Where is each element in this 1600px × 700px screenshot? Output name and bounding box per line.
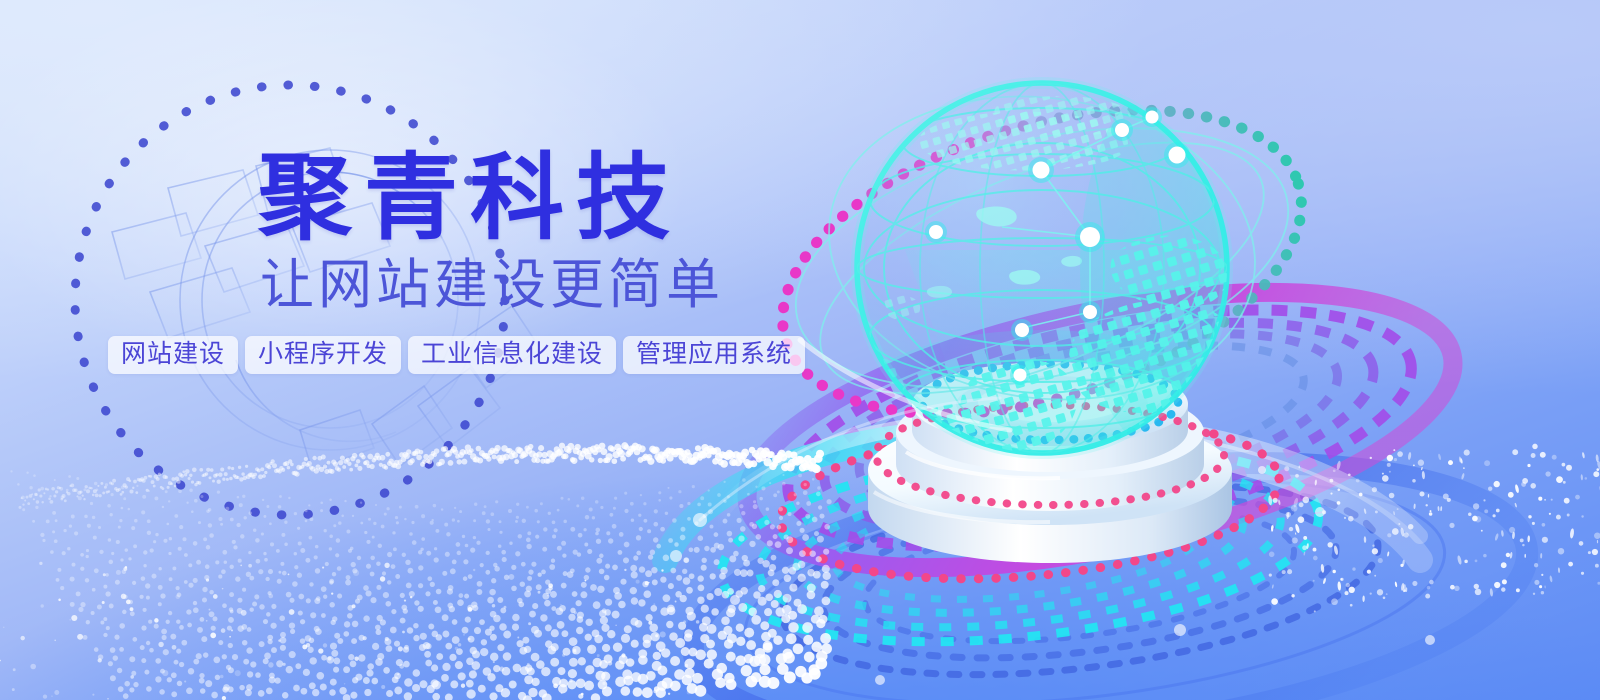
particle-dot xyxy=(702,558,707,563)
particle-blob xyxy=(1258,466,1266,474)
particle-blob xyxy=(670,550,682,562)
particle-dot xyxy=(174,660,179,665)
particle-dot xyxy=(343,666,350,673)
particle-dot xyxy=(1541,574,1543,576)
particle-dot xyxy=(62,494,66,498)
particle-dot xyxy=(352,453,357,458)
particle-dot xyxy=(198,481,202,485)
particle-dot xyxy=(595,500,599,504)
particle-dot xyxy=(822,565,830,573)
particle-dash xyxy=(1540,553,1542,558)
hero-text-block: 聚青科技 让网站建设更简单 网站建设 小程序开发 工业信息化建设 管理应用系统 xyxy=(108,150,868,374)
particle-dot xyxy=(272,463,277,468)
particle-dot xyxy=(580,591,587,598)
particle-dot xyxy=(741,449,749,457)
particle-dot xyxy=(189,489,193,493)
particle-dot xyxy=(111,552,114,555)
particle-dot xyxy=(1506,553,1510,557)
particle-dot xyxy=(631,518,634,521)
particle-dot xyxy=(97,485,99,487)
particle-dot xyxy=(600,448,607,455)
particle-dot xyxy=(561,541,566,546)
particle-dot xyxy=(728,538,733,543)
particle-dot xyxy=(449,606,455,612)
particle-dot xyxy=(535,458,541,464)
particle-dot xyxy=(229,477,233,481)
particle-dot xyxy=(416,455,422,461)
particle-dot xyxy=(20,636,24,640)
particle-dot xyxy=(144,670,149,675)
particle-dot xyxy=(189,474,192,477)
particle-dot xyxy=(707,624,717,634)
particle-dot xyxy=(238,559,242,563)
particle-dot xyxy=(797,604,807,614)
particle-dot xyxy=(199,678,205,684)
particle-dot xyxy=(333,657,340,664)
particle-dot xyxy=(443,446,449,452)
particle-dash xyxy=(1457,555,1463,565)
particle-dot xyxy=(200,495,203,498)
particle-dot xyxy=(718,631,727,640)
particle-dot xyxy=(695,685,707,697)
particle-dot xyxy=(576,679,586,689)
particle-dot xyxy=(103,633,107,637)
particle-dot xyxy=(1493,514,1496,517)
particle-dot xyxy=(0,660,1,662)
particle-dot xyxy=(1556,476,1563,483)
particle-dot xyxy=(368,518,371,521)
particle-dot xyxy=(457,551,461,555)
particle-dot xyxy=(768,569,775,576)
particle-dot xyxy=(480,648,488,656)
particle-dot xyxy=(552,520,556,524)
particle-dot xyxy=(193,578,198,583)
particle-dot xyxy=(119,647,124,652)
particle-dot xyxy=(1382,475,1389,482)
particle-dot xyxy=(240,534,244,538)
particle-dot xyxy=(121,594,126,599)
particle-dot xyxy=(232,540,236,544)
particle-dot xyxy=(614,497,617,500)
particle-dot xyxy=(826,499,831,504)
particle-dot xyxy=(710,573,716,579)
particle-dot xyxy=(71,615,77,621)
particle-dot xyxy=(206,579,209,582)
particle-dot xyxy=(103,573,106,576)
particle-dot xyxy=(783,594,792,603)
particle-dot xyxy=(268,662,273,667)
particle-dot xyxy=(94,482,97,485)
particle-dot xyxy=(206,509,209,512)
particle-dot xyxy=(239,685,245,691)
particle-dot xyxy=(613,642,623,652)
particle-dash xyxy=(1333,545,1338,555)
particle-dot xyxy=(375,504,377,506)
particle-dot xyxy=(471,661,480,670)
particle-dot xyxy=(767,677,779,689)
particle-dot xyxy=(631,640,639,648)
particle-dot xyxy=(315,568,320,573)
particle-dot xyxy=(608,661,613,666)
particle-dot xyxy=(76,495,78,497)
particle-dot xyxy=(1337,501,1341,505)
particle-dot xyxy=(271,647,277,653)
particle-dot xyxy=(585,619,592,626)
particle-dot xyxy=(349,468,353,472)
particle-dot xyxy=(1475,589,1482,596)
particle-dot xyxy=(209,533,214,538)
particle-dot xyxy=(714,588,722,596)
particle-dot xyxy=(384,513,387,516)
particle-dot xyxy=(57,568,61,572)
particle-dot xyxy=(241,472,244,475)
service-tag-website[interactable]: 网站建设 xyxy=(108,336,238,374)
particle-dot xyxy=(1522,544,1524,546)
particle-dot xyxy=(1468,513,1472,517)
particle-dot xyxy=(375,625,381,631)
particle-dot xyxy=(763,643,773,653)
particle-dot xyxy=(90,487,92,489)
particle-dot xyxy=(188,583,193,588)
particle-dot xyxy=(237,496,240,499)
particle-dot xyxy=(639,445,646,452)
particle-dash xyxy=(1597,540,1598,543)
particle-dot xyxy=(1292,537,1298,543)
particle-dot xyxy=(695,445,701,451)
particle-dot xyxy=(769,482,771,484)
particle-dot xyxy=(333,524,336,527)
particle-dot xyxy=(54,690,59,695)
particle-dot xyxy=(158,585,163,590)
particle-dot xyxy=(202,587,207,592)
particle-dot xyxy=(231,629,233,631)
particle-dot xyxy=(136,485,138,487)
particle-dot xyxy=(40,533,44,537)
particle-dot xyxy=(547,595,549,597)
particle-dot xyxy=(286,666,293,673)
particle-dot xyxy=(535,535,539,539)
particle-dot xyxy=(336,538,340,542)
particle-dot xyxy=(314,555,318,559)
particle-dot xyxy=(816,556,822,562)
particle-dot xyxy=(150,548,154,552)
particle-dot xyxy=(351,638,357,644)
particle-dot xyxy=(1463,467,1465,469)
particle-dot xyxy=(327,461,331,465)
particle-dot xyxy=(130,611,135,616)
particle-dot xyxy=(100,621,104,625)
particle-dot xyxy=(1534,580,1539,585)
particle-dot xyxy=(445,643,452,650)
particle-dot xyxy=(430,582,435,587)
particle-dot xyxy=(548,512,551,515)
particle-dot xyxy=(441,508,444,511)
particle-dot xyxy=(560,497,563,500)
particle-dot xyxy=(568,614,575,621)
particle-dot xyxy=(366,564,371,569)
particle-dot xyxy=(581,582,587,588)
particle-dot xyxy=(817,536,824,543)
particle-dot xyxy=(1332,570,1335,573)
particle-dot xyxy=(110,513,113,516)
particle-dot xyxy=(412,684,420,692)
particle-dot xyxy=(425,591,430,596)
particle-dot xyxy=(1430,510,1432,512)
particle-dot xyxy=(331,592,333,594)
particle-dot xyxy=(600,506,603,509)
particle-dot xyxy=(341,515,344,518)
particle-dot xyxy=(129,489,133,493)
particle-dot xyxy=(1556,515,1561,520)
particle-dot xyxy=(442,631,449,638)
particle-dot xyxy=(612,565,618,571)
particle-dot xyxy=(228,643,233,648)
particle-dot xyxy=(300,619,305,624)
particle-dot xyxy=(98,526,101,529)
particle-dot xyxy=(576,627,583,634)
particle-dot xyxy=(784,575,792,583)
particle-dot xyxy=(128,508,130,510)
particle-dot xyxy=(455,647,458,650)
particle-dot xyxy=(605,599,612,606)
particle-dot xyxy=(217,480,221,484)
particle-dot xyxy=(668,693,670,695)
particle-dot xyxy=(689,573,695,579)
particle-dot xyxy=(542,593,549,600)
particle-dot xyxy=(27,502,30,505)
particle-dot xyxy=(534,509,538,513)
particle-dot xyxy=(337,594,342,599)
particle-dot xyxy=(738,536,744,542)
service-tag-management[interactable]: 管理应用系统 xyxy=(623,336,805,374)
particle-dot xyxy=(1397,451,1403,457)
particle-dot xyxy=(481,639,487,645)
particle-dot xyxy=(141,625,146,630)
particle-dot xyxy=(262,474,266,478)
particle-dot xyxy=(747,493,750,496)
particle-dot xyxy=(517,637,519,639)
particle-dot xyxy=(309,638,315,644)
particle-dot xyxy=(1313,580,1315,582)
particle-dot xyxy=(68,475,71,478)
particle-dot xyxy=(174,485,177,488)
particle-blob xyxy=(730,595,740,605)
particle-dot xyxy=(823,549,829,555)
particle-dot xyxy=(466,689,475,698)
particle-dot xyxy=(284,543,288,547)
particle-dot xyxy=(585,580,587,582)
particle-dot xyxy=(812,478,815,481)
particle-dot xyxy=(1404,532,1409,537)
particle-dot xyxy=(92,588,96,592)
particle-dot xyxy=(1345,591,1349,595)
particle-dot xyxy=(402,631,405,634)
particle-dot xyxy=(1348,516,1354,522)
particle-dot xyxy=(575,444,581,450)
particle-dot xyxy=(301,688,308,695)
service-tag-list: 网站建设 小程序开发 工业信息化建设 管理应用系统 xyxy=(108,336,868,374)
particle-dot xyxy=(744,628,754,638)
particle-dot xyxy=(504,606,507,609)
particle-dot xyxy=(31,493,33,495)
particle-dot xyxy=(308,504,310,506)
particle-dot xyxy=(643,590,651,598)
service-tag-miniprogram[interactable]: 小程序开发 xyxy=(245,336,401,374)
particle-dot xyxy=(413,669,421,677)
particle-dot xyxy=(161,629,167,635)
particle-dot xyxy=(1474,584,1479,589)
particle-dot xyxy=(174,514,178,518)
particle-dot xyxy=(49,495,51,497)
particle-dot xyxy=(51,695,53,697)
particle-dot xyxy=(171,672,177,678)
particle-dot xyxy=(1330,493,1332,495)
particle-dot xyxy=(722,591,730,599)
particle-dot xyxy=(159,689,165,695)
particle-dot xyxy=(459,510,462,513)
particle-dot xyxy=(562,653,565,656)
particle-dot xyxy=(501,688,510,697)
particle-dot xyxy=(544,600,551,607)
particle-dot xyxy=(445,694,453,700)
particle-dot xyxy=(589,457,594,462)
particle-dot xyxy=(279,615,285,621)
particle-dot xyxy=(295,472,300,477)
particle-dot xyxy=(145,583,150,588)
particle-dot xyxy=(645,614,652,621)
particle-dot xyxy=(492,604,495,607)
particle-dot xyxy=(653,522,658,527)
particle-dot xyxy=(1581,572,1584,575)
particle-dot xyxy=(278,571,281,574)
particle-dot xyxy=(1273,498,1278,503)
particle-dot xyxy=(255,538,260,543)
particle-dot xyxy=(658,499,661,502)
particle-dot xyxy=(604,575,610,581)
particle-dot xyxy=(706,593,713,600)
particle-dot xyxy=(352,621,359,628)
particle-dot xyxy=(760,621,769,630)
particle-dot xyxy=(612,611,620,619)
particle-dot xyxy=(26,472,28,474)
particle-dash xyxy=(1428,494,1429,498)
particle-dot xyxy=(1327,542,1332,547)
particle-dot xyxy=(1377,589,1383,595)
particle-dot xyxy=(149,648,154,653)
particle-dot xyxy=(99,550,103,554)
particle-dot xyxy=(170,482,173,485)
particle-dot xyxy=(1443,493,1449,499)
particle-dot xyxy=(105,573,108,576)
particle-dot xyxy=(393,547,397,551)
particle-dot xyxy=(402,553,406,557)
particle-dot xyxy=(717,493,721,497)
particle-dot xyxy=(242,640,248,646)
particle-dot xyxy=(588,646,593,651)
particle-dot xyxy=(447,588,453,594)
particle-dot xyxy=(1340,578,1343,581)
particle-dot xyxy=(448,460,454,466)
particle-dot xyxy=(43,694,47,698)
particle-dot xyxy=(561,692,563,694)
service-tag-industrial[interactable]: 工业信息化建设 xyxy=(408,336,616,374)
particle-dot xyxy=(727,513,730,516)
particle-dot xyxy=(607,630,615,638)
particle-dot xyxy=(636,580,640,584)
particle-dot xyxy=(1585,477,1588,480)
particle-dot xyxy=(645,570,652,577)
particle-dot xyxy=(420,680,428,688)
particle-dot xyxy=(621,686,631,696)
particle-dot xyxy=(74,488,77,491)
particle-dot xyxy=(242,495,245,498)
particle-dot xyxy=(309,536,313,540)
particle-dot xyxy=(463,559,468,564)
particle-dot xyxy=(1528,515,1531,518)
particle-dot xyxy=(278,639,281,642)
particle-dot xyxy=(205,564,210,569)
particle-dot xyxy=(367,663,374,670)
particle-dot xyxy=(516,503,519,506)
particle-dot xyxy=(71,515,75,519)
particle-dot xyxy=(599,443,606,450)
particle-dot xyxy=(229,636,231,638)
particle-dot xyxy=(46,519,50,523)
particle-dot xyxy=(298,594,304,600)
particle-dot xyxy=(812,517,818,523)
particle-dot xyxy=(76,591,81,596)
particle-dot xyxy=(133,682,138,687)
particle-dot xyxy=(470,547,475,552)
particle-dot xyxy=(50,550,54,554)
particle-dot xyxy=(807,591,816,600)
particle-dot xyxy=(698,535,704,541)
particle-dash xyxy=(1514,484,1519,493)
particle-dot xyxy=(370,597,376,603)
particle-dot xyxy=(805,514,810,519)
particle-dot xyxy=(33,498,35,500)
particle-dot xyxy=(400,618,406,624)
particle-dot xyxy=(64,499,67,502)
particle-dot xyxy=(258,690,265,697)
particle-dot xyxy=(651,567,657,573)
particle-dot xyxy=(40,487,44,491)
particle-dot xyxy=(188,563,192,567)
particle-dot xyxy=(184,680,186,682)
particle-dot xyxy=(83,498,85,500)
particle-dot xyxy=(103,617,107,621)
particle-dot xyxy=(1544,499,1546,501)
particle-dot xyxy=(639,566,645,572)
particle-dot xyxy=(1488,487,1492,491)
particle-dot xyxy=(380,455,386,461)
particle-dot xyxy=(540,614,547,621)
particle-dot xyxy=(1579,541,1584,546)
particle-dot xyxy=(298,541,302,545)
particle-dot xyxy=(527,531,531,535)
particle-dot xyxy=(718,544,724,550)
particle-dot xyxy=(163,649,169,655)
particle-dot xyxy=(663,594,671,602)
particle-dot xyxy=(109,560,114,565)
particle-dot xyxy=(288,497,290,499)
particle-dot xyxy=(80,602,85,607)
particle-dot xyxy=(108,661,113,666)
particle-dot xyxy=(380,619,386,625)
particle-dot xyxy=(748,607,757,616)
particle-dot xyxy=(683,557,689,563)
particle-dot xyxy=(209,590,214,595)
